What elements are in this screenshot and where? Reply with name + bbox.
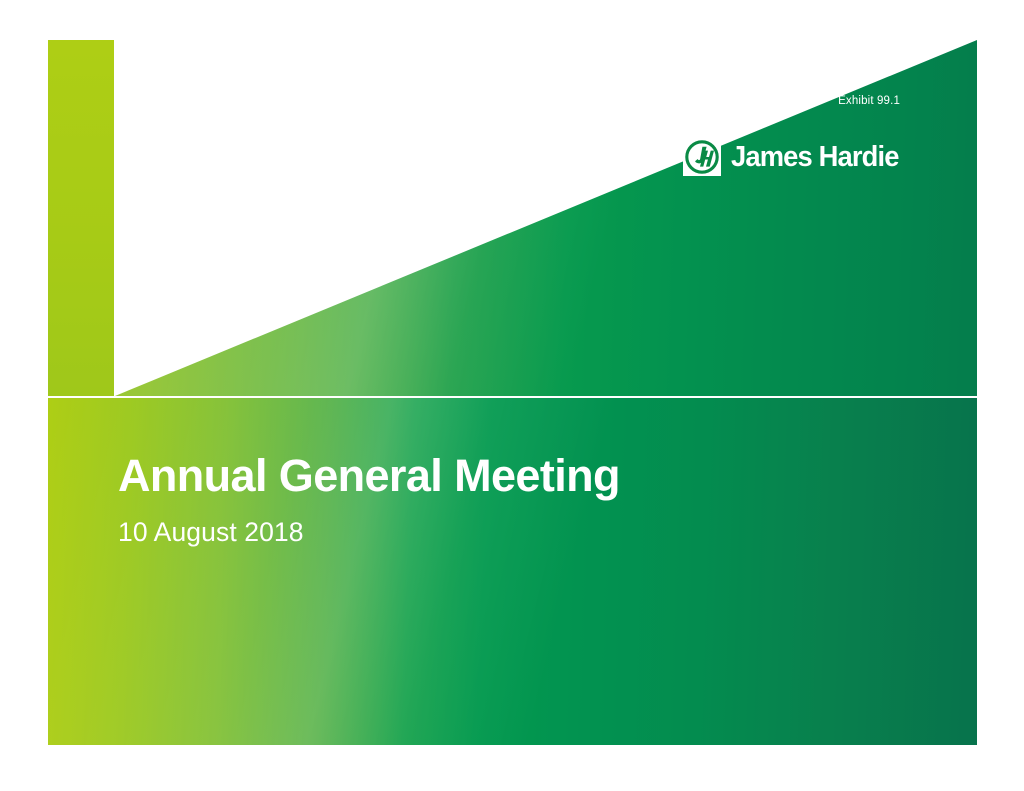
slide-date-subtitle: 10 August 2018 xyxy=(118,517,620,547)
brand-logo-lockup: ® James Hardie xyxy=(683,136,906,178)
decorative-left-vertical-bar xyxy=(48,40,114,396)
title-slide: Exhibit 99.1 ® James Hardie xyxy=(48,40,977,745)
page-title: Annual General Meeting xyxy=(118,450,620,502)
slide-page: Exhibit 99.1 ® James Hardie xyxy=(0,0,1024,791)
exhibit-label: Exhibit 99.1 xyxy=(838,95,900,107)
slide-top-graphic-band xyxy=(48,40,977,396)
james-hardie-jh-monogram-icon: ® xyxy=(683,138,721,176)
registered-trademark-icon: ® xyxy=(722,138,727,145)
title-block: Annual General Meeting 10 August 2018 xyxy=(118,450,620,547)
decorative-diagonal-wedge xyxy=(48,40,977,396)
horizontal-divider xyxy=(48,396,977,398)
brand-wordmark: James Hardie xyxy=(731,142,899,172)
